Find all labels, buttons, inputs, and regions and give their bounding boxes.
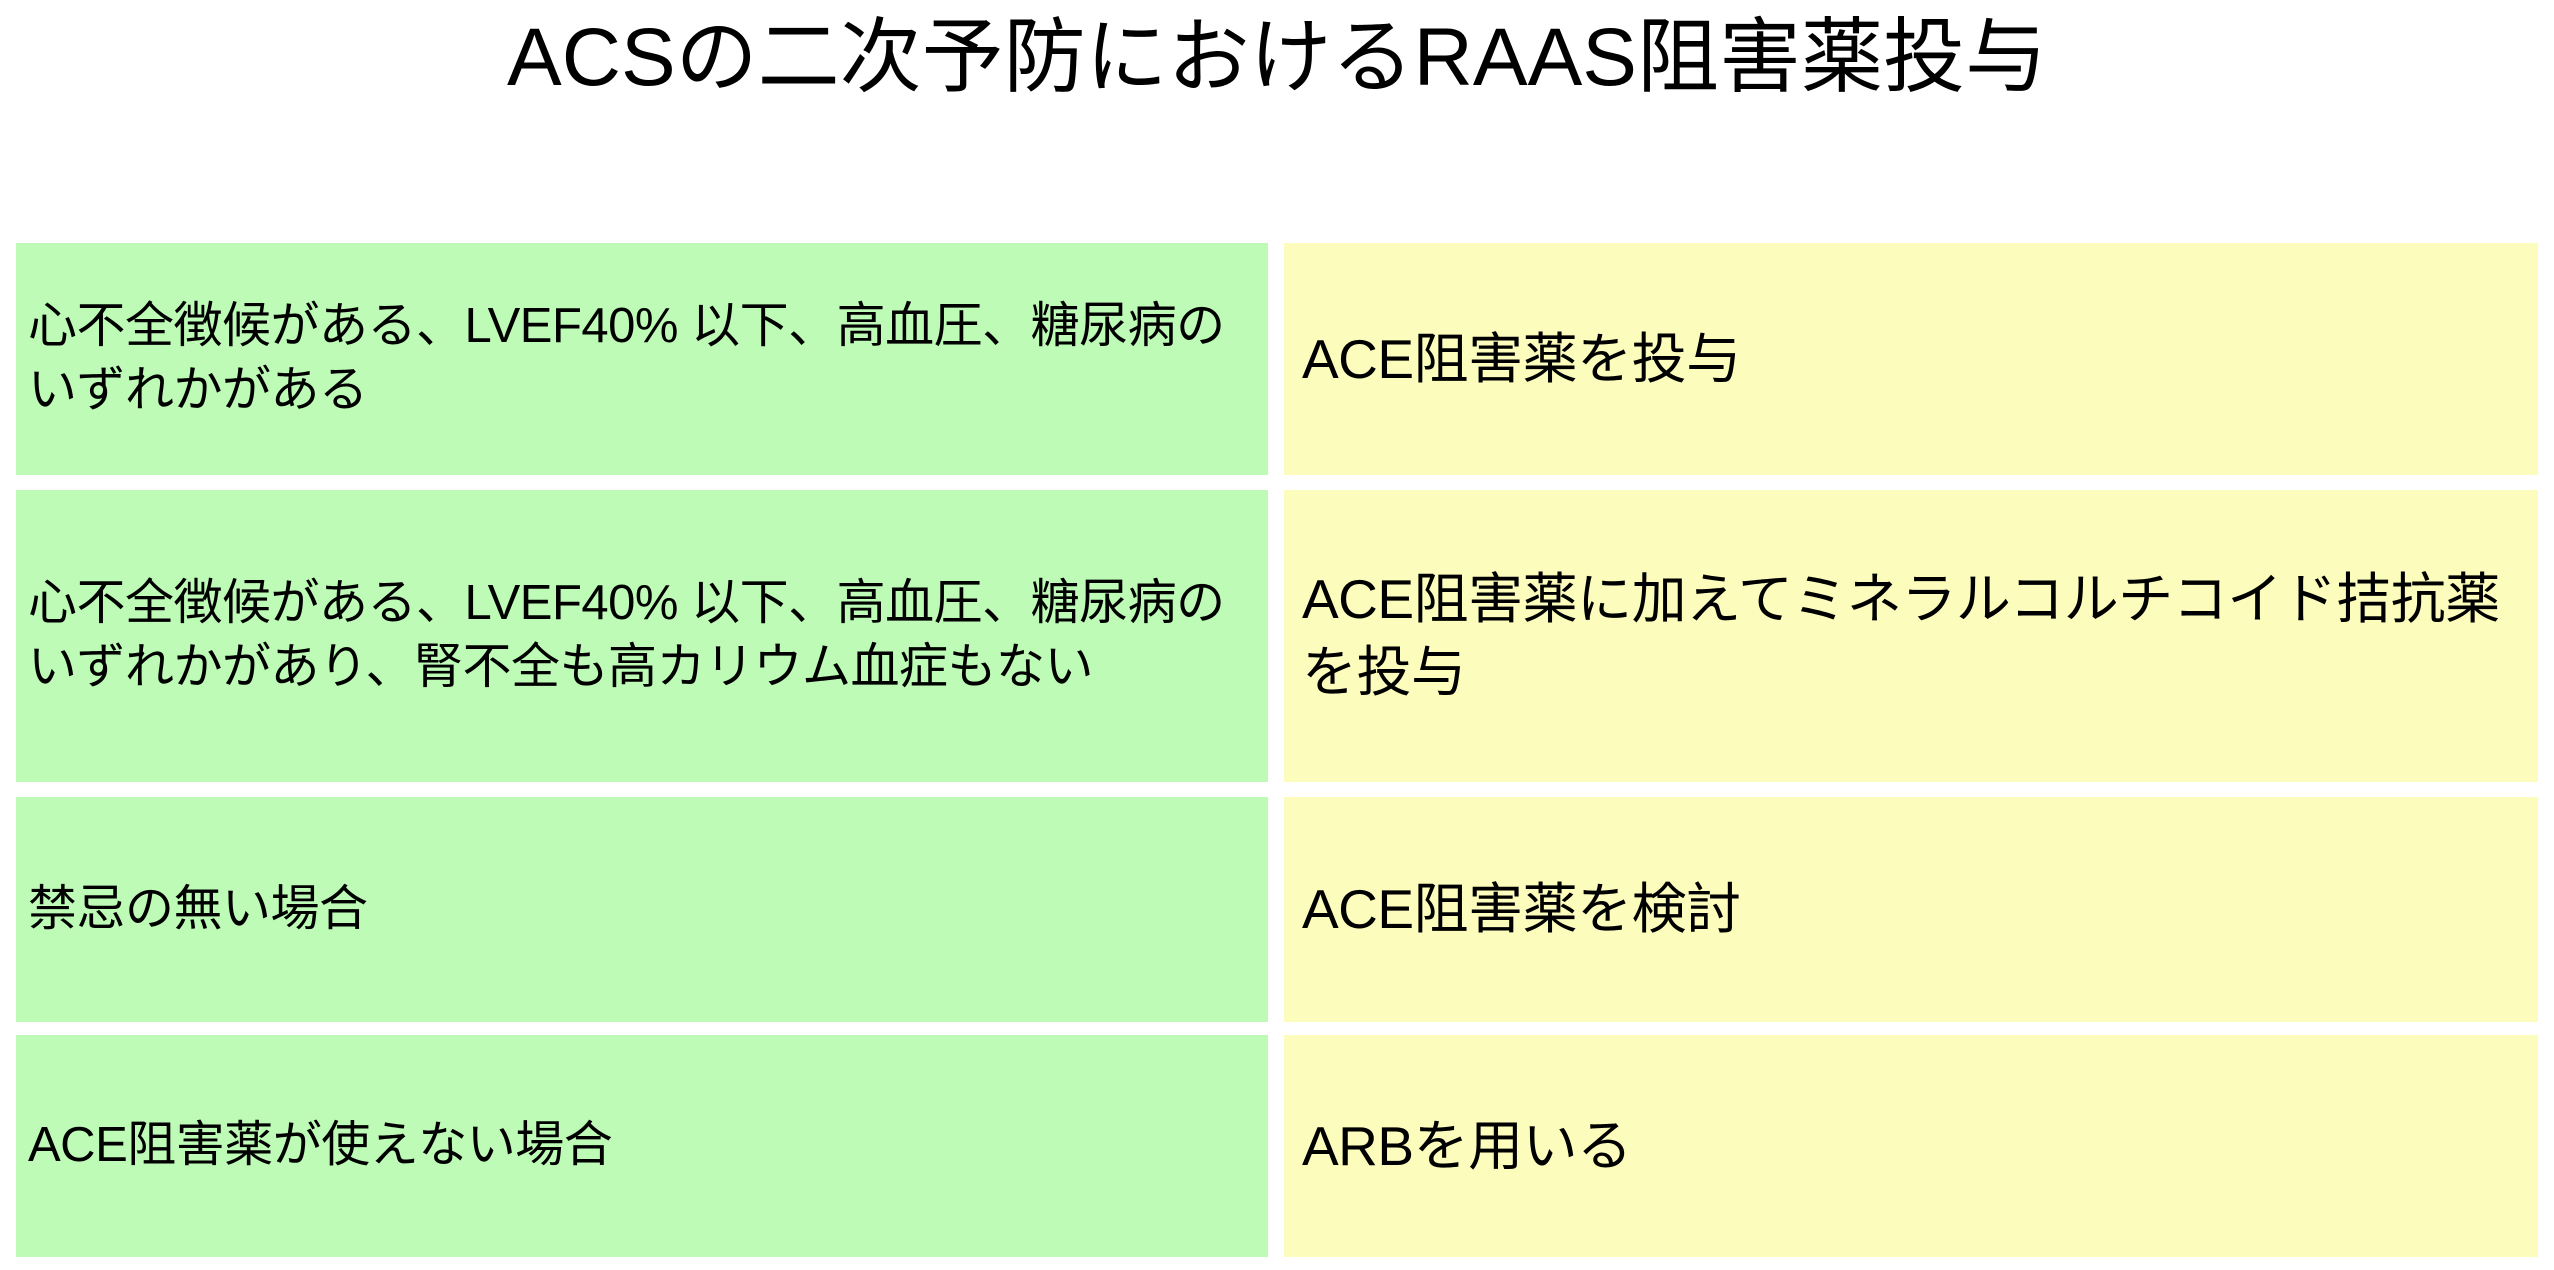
condition-text: 心不全徴候がある、LVEF40% 以下、高血圧、糖尿病のいずれかがあり、腎不全も…: [28, 572, 1254, 699]
action-text: ACE阻害薬を投与: [1302, 323, 2522, 396]
action-cell: ACE阻害薬に加えてミネラルコルチコイド拮抗薬を投与: [1284, 490, 2538, 782]
recommendation-table: 心不全徴候がある、LVEF40% 以下、高血圧、糖尿病のいずれかがある ACE阻…: [16, 243, 2538, 1257]
action-cell: ACE阻害薬を検討: [1284, 797, 2538, 1022]
table-row: ACE阻害薬が使えない場合 ARBを用いる: [16, 1035, 2538, 1257]
table-row: 心不全徴候がある、LVEF40% 以下、高血圧、糖尿病のいずれかがある ACE阻…: [16, 243, 2538, 475]
action-cell: ACE阻害薬を投与: [1284, 243, 2538, 475]
condition-cell: ACE阻害薬が使えない場合: [16, 1035, 1268, 1257]
page-title: ACSの二次予防におけるRAAS阻害薬投与: [0, 12, 2554, 104]
condition-text: 禁忌の無い場合: [28, 878, 1254, 942]
condition-text: 心不全徴候がある、LVEF40% 以下、高血圧、糖尿病のいずれかがある: [28, 295, 1254, 422]
action-text: ACE阻害薬に加えてミネラルコルチコイド拮抗薬を投与: [1302, 563, 2522, 708]
condition-cell: 心不全徴候がある、LVEF40% 以下、高血圧、糖尿病のいずれかがある: [16, 243, 1268, 475]
table-row: 禁忌の無い場合 ACE阻害薬を検討: [16, 797, 2538, 1022]
slide-canvas: ACSの二次予防におけるRAAS阻害薬投与 心不全徴候がある、LVEF40% 以…: [0, 0, 2554, 1270]
action-text: ARBを用いる: [1302, 1110, 2522, 1183]
condition-cell: 心不全徴候がある、LVEF40% 以下、高血圧、糖尿病のいずれかがあり、腎不全も…: [16, 490, 1268, 782]
table-row: 心不全徴候がある、LVEF40% 以下、高血圧、糖尿病のいずれかがあり、腎不全も…: [16, 490, 2538, 782]
condition-text: ACE阻害薬が使えない場合: [28, 1114, 1254, 1178]
action-text: ACE阻害薬を検討: [1302, 873, 2522, 946]
condition-cell: 禁忌の無い場合: [16, 797, 1268, 1022]
action-cell: ARBを用いる: [1284, 1035, 2538, 1257]
